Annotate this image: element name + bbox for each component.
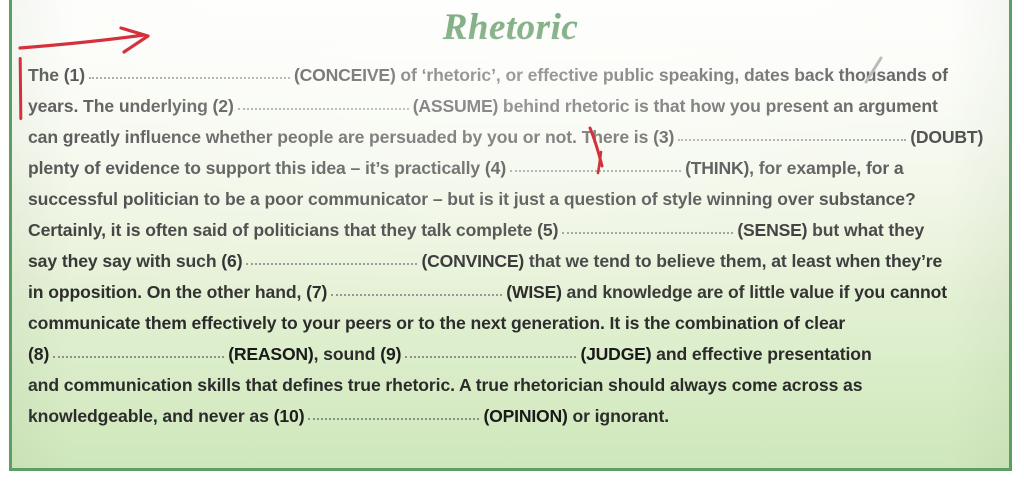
text-line: knowledgeable, and never as (10)(OPINION… [28, 401, 995, 432]
prompt-word: (REASON) [228, 344, 313, 364]
prompt-word: (WISE) [506, 282, 561, 302]
body-text-run: behind rhetoric is that how you present … [498, 96, 938, 116]
worksheet-body: The (1)(CONCEIVE) of ‘rhetoric’, or effe… [28, 60, 995, 432]
body-text-run: but what they [807, 220, 924, 240]
answer-blank[interactable] [306, 408, 481, 422]
text-line: can greatly influence whether people are… [28, 122, 995, 153]
text-line: Certainly, it is often said of politicia… [28, 215, 995, 246]
answer-blank[interactable] [87, 67, 292, 81]
answer-blank[interactable] [244, 253, 419, 267]
answer-blank[interactable] [403, 346, 578, 360]
body-text-run: in opposition. On the other hand, [28, 282, 306, 302]
prompt-word: (ASSUME) [413, 96, 498, 116]
answer-blank[interactable] [236, 98, 411, 112]
body-text-run: plenty of evidence to support this idea … [28, 158, 485, 178]
prompt-word: (CONCEIVE) [294, 65, 396, 85]
body-text-run: successful politician to be a poor commu… [28, 189, 916, 209]
question-number: (5) [537, 220, 558, 240]
text-line: The (1)(CONCEIVE) of ‘rhetoric’, or effe… [28, 60, 995, 91]
prompt-word: (DOUBT) [910, 127, 983, 147]
question-number: (9) [380, 344, 401, 364]
text-line: plenty of evidence to support this idea … [28, 153, 995, 184]
answer-blank[interactable] [560, 222, 735, 236]
scanned-page: Rhetoric The (1)(CONCEIVE) of ‘rhetoric’… [0, 0, 1024, 487]
text-line: communicate them effectively to your pee… [28, 308, 995, 339]
prompt-word: (SENSE) [737, 220, 807, 240]
prompt-word: (THINK) [685, 158, 749, 178]
prompt-word: (JUDGE) [580, 344, 651, 364]
question-number: (10) [274, 406, 305, 426]
body-text-run: or ignorant. [568, 406, 669, 426]
worksheet-card: Rhetoric The (1)(CONCEIVE) of ‘rhetoric’… [9, 0, 1012, 471]
body-text-run: say they say with such [28, 251, 221, 271]
answer-blank[interactable] [676, 129, 908, 143]
answer-blank[interactable] [508, 160, 683, 174]
answer-blank[interactable] [329, 284, 504, 298]
question-number: (6) [221, 251, 242, 271]
body-text-run: , sound [314, 344, 381, 364]
question-number: (2) [213, 96, 234, 116]
prompt-word: (OPINION) [483, 406, 567, 426]
text-line: years. The underlying (2)(ASSUME) behind… [28, 91, 995, 122]
body-text-run: , for example, for a [749, 158, 903, 178]
text-line: successful politician to be a poor commu… [28, 184, 995, 215]
prompt-word: (CONVINCE) [421, 251, 524, 271]
body-text-run: and knowledge are of little value if you… [562, 282, 947, 302]
question-number: (8) [28, 344, 49, 364]
text-line: (8)(REASON), sound (9)(JUDGE) and effect… [28, 339, 995, 370]
body-text-run: The [28, 65, 64, 85]
text-line: say they say with such (6)(CONVINCE) tha… [28, 246, 995, 277]
text-line: in opposition. On the other hand, (7)(WI… [28, 277, 995, 308]
body-text-run: Certainly, it is often said of politicia… [28, 220, 537, 240]
text-line: and communication skills that defines tr… [28, 370, 995, 401]
body-text-run: knowledgeable, and never as [28, 406, 274, 426]
body-text-run: and communication skills that defines tr… [28, 375, 862, 395]
question-number: (3) [653, 127, 674, 147]
body-text-run: years. The underlying [28, 96, 213, 116]
page-title: Rhetoric [12, 6, 1009, 49]
body-text-run: and effective presentation [651, 344, 871, 364]
body-text-run: communicate them effectively to your pee… [28, 313, 845, 333]
body-text-run: that we tend to believe them, at least w… [524, 251, 942, 271]
question-number: (4) [485, 158, 506, 178]
body-text-run: of ‘rhetoric’, or effective public speak… [396, 65, 948, 85]
answer-blank[interactable] [51, 346, 226, 360]
question-number: (7) [306, 282, 327, 302]
question-number: (1) [64, 65, 85, 85]
body-text-run: can greatly influence whether people are… [28, 127, 653, 147]
